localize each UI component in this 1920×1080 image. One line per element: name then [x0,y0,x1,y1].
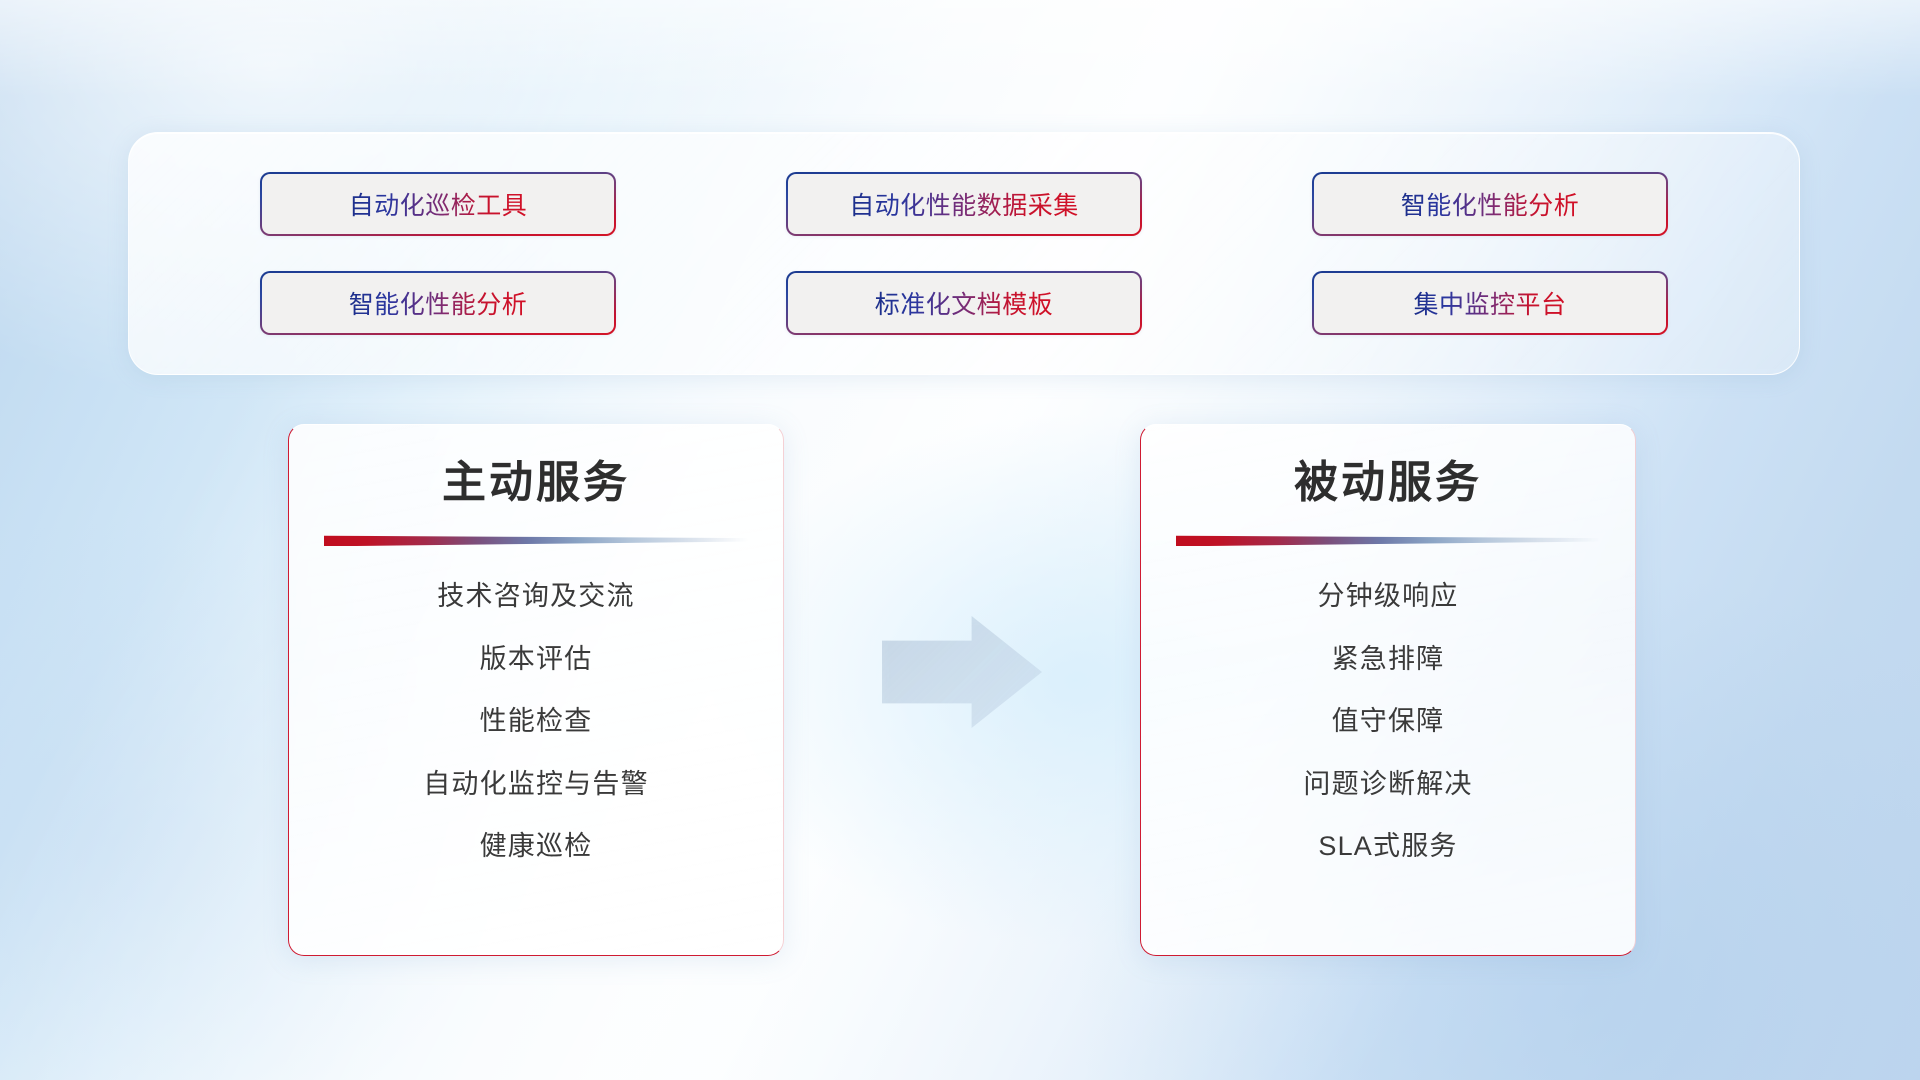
capability-pill-label: 自动化性能数据采集 [849,186,1079,222]
title-divider-wedge [324,533,748,546]
service-card-title: 主动服务 [442,459,630,507]
slide-stage: 自动化巡检工具 自动化性能数据采集 智能化性能分析 智能化性能分析 标准化文档模… [0,0,1920,1080]
capability-pill[interactable]: 智能化性能分析 [1312,172,1668,236]
capability-pill[interactable]: 智能化性能分析 [260,271,616,335]
capability-pill-label: 自动化巡检工具 [349,186,528,222]
arrow-right-icon [882,616,1042,728]
capability-pill-label: 标准化文档模板 [875,285,1054,321]
service-card-title: 被动服务 [1294,459,1482,507]
list-item: 性能检查 [480,705,593,737]
title-divider-wedge [1176,533,1600,546]
service-item-list: 分钟级响应 紧急排障 值守保障 问题诊断解决 SLA式服务 [1141,580,1635,862]
capability-pill[interactable]: 自动化性能数据采集 [786,172,1142,236]
service-item-list: 技术咨询及交流 版本评估 性能检查 自动化监控与告警 健康巡检 [289,580,783,862]
title-divider [324,533,748,546]
capability-pill[interactable]: 集中监控平台 [1312,271,1668,335]
list-item: SLA式服务 [1318,830,1457,862]
list-item: 版本评估 [480,643,593,675]
title-divider [1176,533,1600,546]
list-item: 健康巡检 [480,830,593,862]
capability-pill[interactable]: 自动化巡检工具 [260,172,616,236]
list-item: 自动化监控与告警 [423,768,649,800]
list-item: 问题诊断解决 [1303,768,1472,800]
list-item: 分钟级响应 [1318,580,1459,612]
list-item: 技术咨询及交流 [437,580,634,612]
service-card-reactive: 被动服务 分钟级响应 紧急排障 值守保障 问题诊断解决 SLA式服务 [1140,424,1636,956]
capability-pill-label: 智能化性能分析 [1401,186,1580,222]
capability-pill-label: 智能化性能分析 [349,285,528,321]
capabilities-panel: 自动化巡检工具 自动化性能数据采集 智能化性能分析 智能化性能分析 标准化文档模… [128,132,1800,375]
list-item: 紧急排障 [1332,643,1445,675]
capability-pill[interactable]: 标准化文档模板 [786,271,1142,335]
capability-pill-label: 集中监控平台 [1413,285,1566,321]
list-item: 值守保障 [1332,705,1445,737]
service-card-proactive: 主动服务 技术咨询及交流 版本评估 性能检查 自动化监控与告警 健康巡检 [288,424,784,956]
